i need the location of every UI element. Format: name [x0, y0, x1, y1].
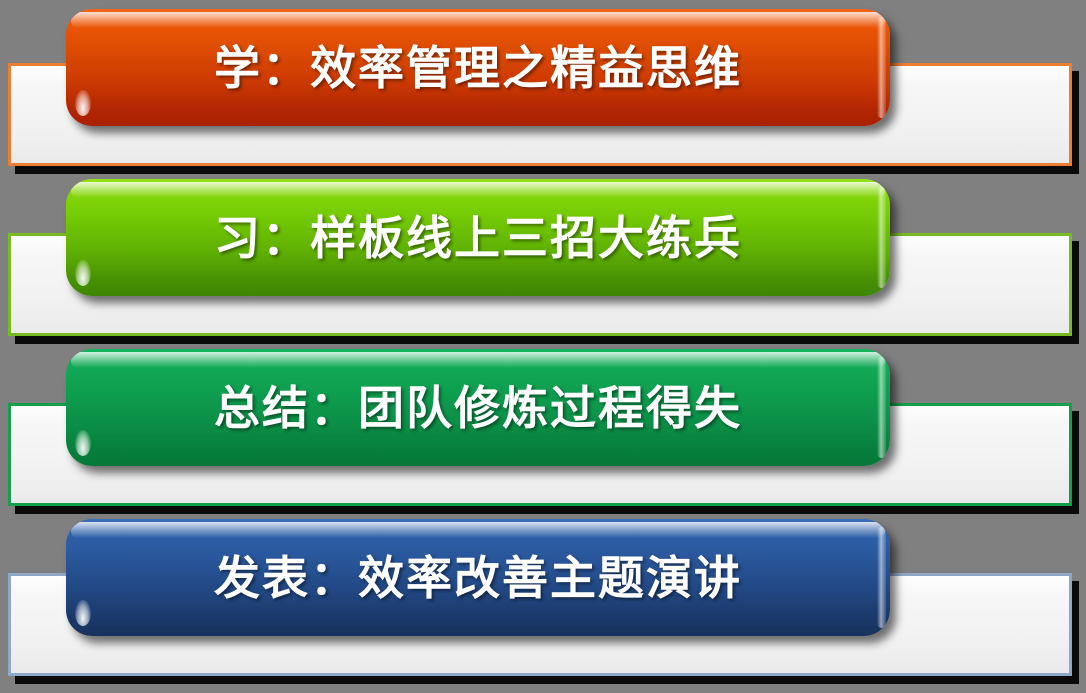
gloss-highlight-icon [75, 600, 91, 626]
agenda-row-3: 总结：团队修炼过程得失 [0, 340, 1086, 510]
agenda-label-3: 总结：团队修炼过程得失 [214, 385, 742, 431]
agenda-row-1: 学：效率管理之精益思维 [0, 0, 1086, 170]
gloss-highlight-icon [75, 260, 91, 286]
agenda-label-1: 学：效率管理之精益思维 [214, 45, 742, 91]
agenda-button-4[interactable]: 发表：效率改善主题演讲 [66, 519, 890, 636]
agenda-row-4: 发表：效率改善主题演讲 [0, 510, 1086, 680]
gloss-highlight-icon [75, 90, 91, 116]
gloss-highlight-icon [75, 430, 91, 456]
agenda-label-4: 发表：效率改善主题演讲 [214, 555, 742, 601]
agenda-label-2: 习：样板线上三招大练兵 [214, 215, 742, 261]
agenda-button-1[interactable]: 学：效率管理之精益思维 [66, 9, 890, 126]
slide-canvas: 学：效率管理之精益思维 习：样板线上三招大练兵 总结：团队修炼过程得失 发表：效… [0, 0, 1086, 693]
agenda-row-2: 习：样板线上三招大练兵 [0, 170, 1086, 340]
agenda-button-3[interactable]: 总结：团队修炼过程得失 [66, 349, 890, 466]
agenda-button-2[interactable]: 习：样板线上三招大练兵 [66, 179, 890, 296]
